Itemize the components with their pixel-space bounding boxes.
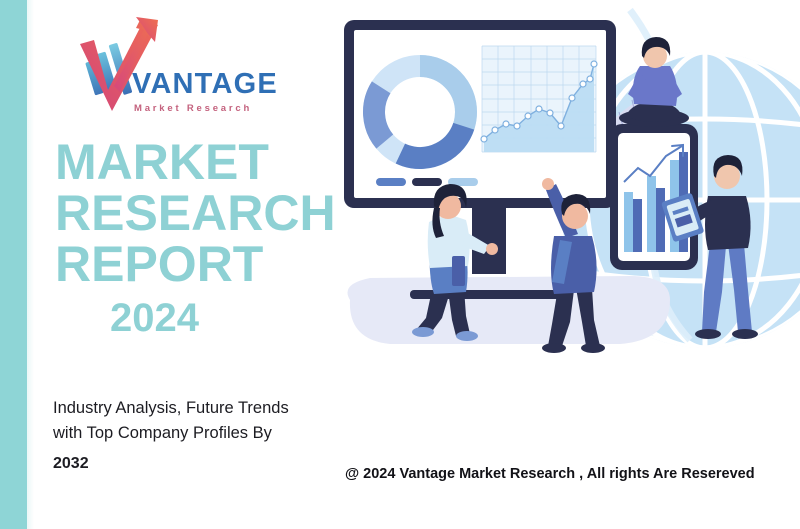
title-line-1: MARKET (55, 137, 336, 188)
vantage-logo: VANTAGE Market Research (70, 12, 275, 124)
left-accent-fade (27, 0, 34, 529)
left-accent-bar (0, 0, 27, 529)
subtitle-line-2: with Top Company Profiles By (53, 424, 272, 442)
title-line-2: RESEARCH (55, 188, 336, 239)
subtitle-year: 2032 (53, 451, 289, 476)
page-title: MARKET RESEARCH REPORT 2024 (55, 137, 336, 344)
subtitle-line-1: Industry Analysis, Future Trends (53, 399, 289, 417)
monitor-stand-neck (472, 198, 506, 274)
title-year: 2024 (110, 292, 336, 344)
copyright-notice: @ 2024 Vantage Market Research , All rig… (345, 466, 755, 482)
area-line-chart (481, 46, 597, 152)
market-research-dashboard-illustration (330, 0, 800, 400)
title-line-3: REPORT (55, 239, 336, 290)
logo-wordmark: VANTAGE (132, 70, 277, 99)
subtitle: Industry Analysis, Future Trends with To… (53, 396, 289, 476)
poster-canvas: VANTAGE Market Research MARKET RESEARCH … (0, 0, 800, 529)
legend-bars (376, 178, 478, 186)
ground-blob (348, 276, 671, 344)
logo-tagline: Market Research (134, 104, 252, 114)
